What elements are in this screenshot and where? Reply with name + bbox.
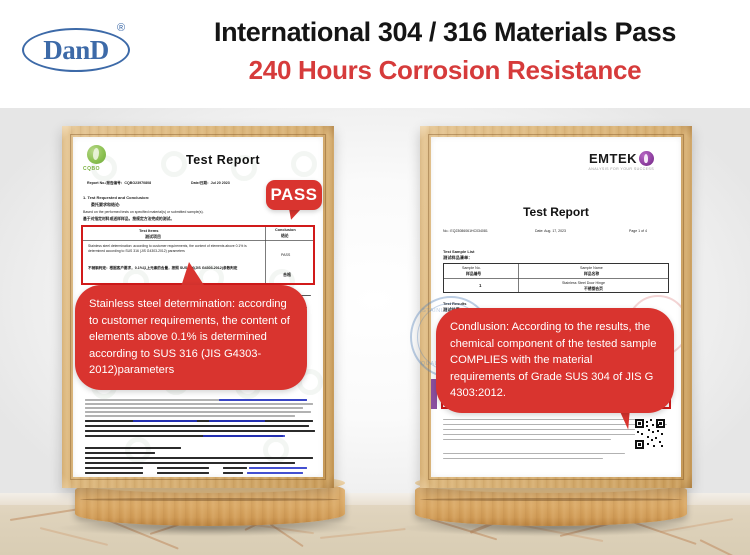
footer-line bbox=[85, 403, 313, 405]
leaf-glyph bbox=[93, 148, 99, 160]
registered-trademark-icon: ® bbox=[117, 22, 125, 34]
left-section-note-cn: 基于对指定材料或送样样品，按规定方法完成的测试。 bbox=[83, 217, 174, 222]
left-callout: Stainless steel determination: according… bbox=[75, 285, 307, 390]
stand-edge-line bbox=[420, 498, 681, 501]
date-label: Date: bbox=[535, 229, 543, 233]
left-col-items-cn: 测试项目 bbox=[145, 234, 161, 240]
footer-line bbox=[443, 434, 649, 435]
address-line bbox=[85, 452, 155, 454]
address-line bbox=[85, 457, 313, 459]
right-callout: Condlusion: According to the results, th… bbox=[436, 308, 674, 413]
col-sample-no: Sample No. bbox=[462, 266, 481, 270]
left-row-text-cn: 不锈钢判定：根据客户要求，0.1%以上元素的含量，按照 SUS 316(JIS … bbox=[88, 266, 260, 271]
page-value: 1 of 4 bbox=[638, 229, 647, 233]
right-doc-title: Test Report bbox=[486, 205, 626, 219]
footer-line bbox=[443, 453, 625, 454]
banner-header: DanD ® International 304 / 316 Materials… bbox=[0, 0, 750, 108]
page-label: Page bbox=[629, 229, 637, 233]
paper-watermark bbox=[125, 437, 151, 463]
footer-line bbox=[85, 411, 311, 413]
qr-code[interactable] bbox=[635, 419, 665, 449]
footer-line-bold bbox=[85, 420, 313, 422]
left-col-items: Test Items bbox=[139, 228, 159, 233]
col-sample-name: Sample Name bbox=[580, 266, 603, 270]
footer-line bbox=[443, 439, 611, 440]
sample-name-value: Stainless Steel Door Hinge bbox=[562, 281, 605, 285]
footer-link[interactable] bbox=[219, 399, 307, 401]
col-sample-no-cn: 样品编号 bbox=[466, 272, 481, 277]
footer-line bbox=[443, 458, 603, 459]
emtek-logo-text: EMTEK bbox=[589, 151, 637, 166]
emtek-lab-logo: EMTEK ANALYSIS FOR YOUR SUCCESS bbox=[589, 151, 654, 166]
report-no-value: CQBO23970808 bbox=[124, 181, 151, 185]
certificate-paper-right: EMTEK ANALYSIS FOR YOUR SUCCESS Test Rep… bbox=[431, 137, 681, 477]
cqbo-lab-logo-icon bbox=[87, 145, 106, 164]
address-line bbox=[85, 462, 295, 464]
address-line bbox=[85, 447, 181, 449]
no-value: EQ23086061HC034081 bbox=[450, 229, 487, 233]
date-label: Date/日期： bbox=[191, 181, 211, 185]
contact-line bbox=[85, 472, 143, 474]
date-value: Aug. 17, 2023 bbox=[544, 229, 566, 233]
footer-line-bold bbox=[85, 430, 315, 432]
left-row-conclusion: PASS bbox=[281, 253, 290, 257]
cqbo-lab-logo-label: CQBO bbox=[83, 166, 100, 172]
website-link[interactable] bbox=[247, 472, 303, 474]
stand-edge-line bbox=[80, 498, 339, 501]
footer-line-bold bbox=[85, 425, 309, 427]
table-col-divider bbox=[518, 264, 519, 292]
footer-link[interactable] bbox=[209, 420, 265, 422]
contact-line bbox=[157, 472, 209, 474]
left-report-date: Date/日期：Jul 20 2023 bbox=[191, 181, 230, 186]
emtek-mark-icon bbox=[639, 151, 654, 166]
emtek-tagline: ANALYSIS FOR YOUR SUCCESS bbox=[588, 167, 654, 171]
sample-no-value: 1 bbox=[479, 283, 481, 288]
table-col-divider bbox=[265, 227, 266, 283]
left-row-conclusion-cn: 合格 bbox=[283, 272, 291, 278]
marble-vein bbox=[700, 539, 742, 555]
footer-line bbox=[85, 415, 295, 417]
logo-wordmark: DanD bbox=[43, 37, 109, 64]
headline-secondary: 240 Hours Corrosion Resistance bbox=[150, 54, 740, 88]
contact-line bbox=[85, 467, 143, 469]
results-title: Test Results bbox=[443, 301, 467, 306]
headline-primary: International 304 / 316 Materials Pass bbox=[150, 16, 740, 50]
col-sample-name-cn: 样品名称 bbox=[584, 272, 599, 277]
paper-watermark bbox=[263, 437, 289, 463]
left-row-text: Stainless steel determination: according… bbox=[88, 244, 260, 255]
logo-ellipse-shape: DanD bbox=[22, 28, 130, 72]
footer-line bbox=[85, 407, 303, 409]
report-no-label: Report No./报告编号： bbox=[87, 181, 124, 185]
framed-certificate-right[interactable]: EMTEK ANALYSIS FOR YOUR SUCCESS Test Rep… bbox=[420, 126, 692, 488]
right-report-no: No.: EQ23086061HC034081 bbox=[443, 229, 488, 233]
table-rule bbox=[444, 278, 668, 279]
footer-link[interactable] bbox=[203, 435, 285, 437]
contact-line bbox=[223, 472, 243, 474]
left-col-conclusion: Conclusion bbox=[275, 228, 296, 232]
contact-line bbox=[223, 467, 247, 469]
left-col-conclusion-cn: 结论 bbox=[281, 234, 289, 239]
headline-block: International 304 / 316 Materials Pass 2… bbox=[150, 16, 740, 88]
left-section-title-cn: 委托要求和结论: bbox=[91, 202, 120, 208]
right-page-indicator: Page 1 of 4 bbox=[629, 229, 647, 233]
sample-table: Sample No. 样品编号 Sample Name 样品名称 1 Stain… bbox=[443, 263, 669, 293]
contact-line bbox=[157, 467, 209, 469]
table-rule bbox=[83, 240, 313, 241]
dand-logo[interactable]: DanD ® bbox=[14, 20, 139, 78]
pass-badge: PASS bbox=[266, 180, 322, 210]
left-section-note: Based on the performed tests on specifie… bbox=[83, 210, 204, 214]
sample-name-value-cn: 不锈钢合页 bbox=[584, 287, 603, 292]
left-report-no: Report No./报告编号：CQBO23970808 bbox=[87, 181, 151, 186]
date-value: Jul 20 2023 bbox=[211, 181, 230, 185]
email-link[interactable] bbox=[249, 467, 307, 469]
left-doc-title: Test Report bbox=[133, 153, 313, 167]
no-label: No.: bbox=[443, 229, 449, 233]
sample-list-title-cn: 测试样品清单： bbox=[443, 255, 472, 261]
footer-link[interactable] bbox=[133, 420, 197, 422]
right-report-date: Date: Aug. 17, 2023 bbox=[535, 229, 566, 233]
sample-list-title: Test Sample List bbox=[443, 249, 475, 254]
left-section-title: 1. Test Requested and Conclusion: bbox=[83, 195, 149, 200]
promo-banner: CQBO Test Report Report No./报告编号：CQBO239… bbox=[0, 0, 750, 555]
